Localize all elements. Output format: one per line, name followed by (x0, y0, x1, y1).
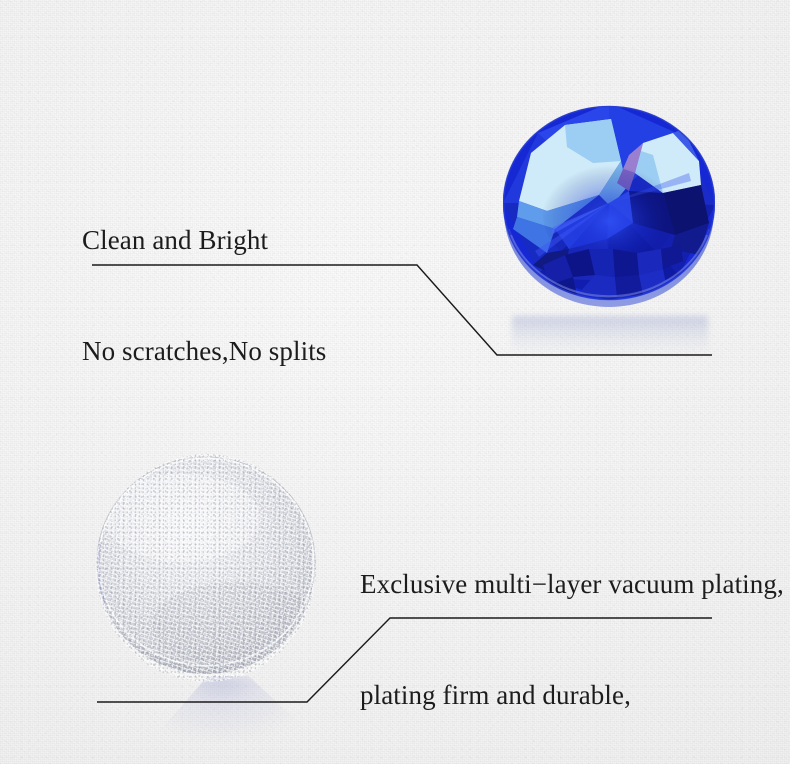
blue-crystal-image (503, 103, 715, 309)
callout-top-line-2: No scratches,No splits (82, 333, 326, 370)
crystal-shadow (512, 316, 708, 352)
callout-bottom-line-1: Exclusive multi−layer vacuum plating, (360, 566, 784, 603)
infographic-canvas: Clean and Bright No scratches,No splits … (0, 0, 790, 764)
disc-grain-speckle (96, 454, 316, 682)
callout-vacuum-plating: Exclusive multi−layer vacuum plating, pl… (360, 492, 784, 764)
callout-clean-and-bright: Clean and Bright No scratches,No splits (82, 148, 326, 444)
blue-crystal-svg (503, 103, 715, 309)
callout-bottom-line-2: plating firm and durable, (360, 677, 784, 714)
silver-disc-image (96, 454, 316, 682)
callout-top-line-1: Clean and Bright (82, 222, 326, 259)
